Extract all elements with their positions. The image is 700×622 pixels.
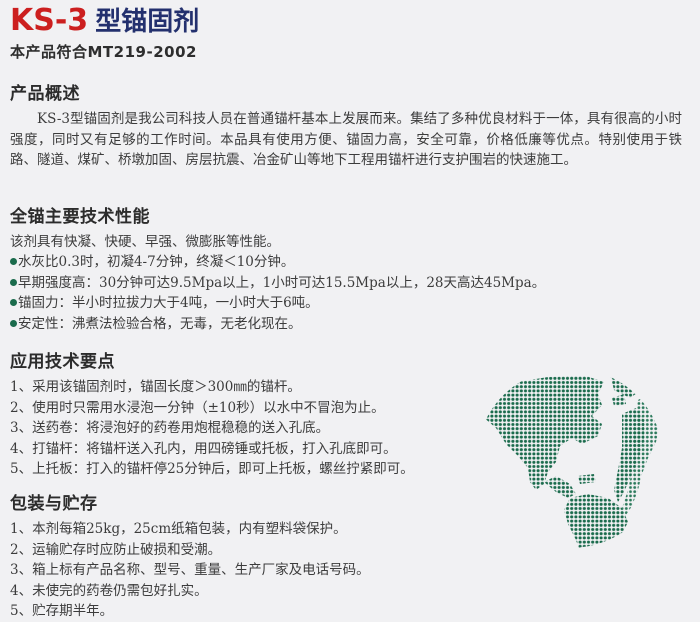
section-application-points: 应用技术要点 1、采用该锚固剂时，锚固长度＞300㎜的锚杆。 2、使用时只需用水… xyxy=(10,352,692,480)
technical-bullet-2: 早期强度高：30分钟可达9.5Mpa以上，1小时可达15.5Mpa以上，28天高… xyxy=(10,273,692,294)
section-packaging-storage: 包装与贮存 1、本剂每箱25kg，25cm纸箱包装，内有塑料袋保护。 2、运输贮… xyxy=(10,494,692,622)
packaging-item-3: 3、箱上标有产品名称、型号、重量、生产厂家及电话号码。 xyxy=(10,560,692,581)
technical-bullet-4: 安定性：沸煮法检验合格，无毒，无老化现在。 xyxy=(10,314,692,335)
application-item-5: 5、上托板：打入的锚杆停25分钟后，即可上托板，螺丝拧紧即可。 xyxy=(10,459,692,480)
technical-bullet-4-text: 安定性：沸煮法检验合格，无毒，无老化现在。 xyxy=(18,316,302,332)
technical-intro: 该剂具有快凝、快硬、早强、微膨胀等性能。 xyxy=(10,232,692,252)
standard-compliance-line: 本产品符合MT219-2002 xyxy=(10,41,690,62)
technical-bullet-1: 水灰比0.3时，初凝4-7分钟，终凝＜10分钟。 xyxy=(10,252,692,273)
packaging-item-2: 2、运输贮存时应防止破损和受潮。 xyxy=(10,540,692,561)
section-heading-packaging: 包装与贮存 xyxy=(10,494,692,515)
packaging-item-1: 1、本剂每箱25kg，25cm纸箱包装，内有塑料袋保护。 xyxy=(10,519,692,540)
product-name: 型锚固剂 xyxy=(95,7,199,37)
document-header: KS-3型锚固剂 本产品符合MT219-2002 xyxy=(10,6,690,62)
overview-paragraph: KS-3型锚固剂是我公司科技人员在普通锚杆基本上发展而来。集结了多种优良材料于一… xyxy=(10,109,682,171)
section-heading-technical: 全锚主要技术性能 xyxy=(10,207,692,228)
technical-bullet-2-text: 早期强度高：30分钟可达9.5Mpa以上，1小时可达15.5Mpa以上，28天高… xyxy=(18,275,545,291)
application-item-4: 4、打锚杆：将锚杆送入孔内，用四磅锤或托板，打入孔底即可。 xyxy=(10,439,692,460)
product-datasheet-page: KS-3型锚固剂 本产品符合MT219-2002 产品概述 KS-3型锚固剂是我… xyxy=(0,0,700,608)
technical-bullet-3-text: 锚固力：半小时拉拔力大于4吨，一小时大于6吨。 xyxy=(18,295,319,311)
section-technical-performance: 全锚主要技术性能 该剂具有快凝、快硬、早强、微膨胀等性能。 水灰比0.3时，初凝… xyxy=(10,207,692,334)
packaging-item-5: 5、贮存期半年。 xyxy=(10,601,692,622)
section-heading-application: 应用技术要点 xyxy=(10,352,692,373)
application-item-3: 3、送药卷：将浸泡好的药卷用炮棍稳稳的送入孔底。 xyxy=(10,418,692,439)
page-title: KS-3型锚固剂 xyxy=(10,6,690,36)
bullet-dot-icon xyxy=(10,299,17,306)
application-item-2: 2、使用时只需用水浸泡一分钟（±10秒）以水中不冒泡为止。 xyxy=(10,398,692,419)
packaging-item-4: 4、未使完的药卷仍需包好扎实。 xyxy=(10,581,692,602)
bullet-dot-icon xyxy=(10,279,17,286)
bullet-dot-icon xyxy=(10,320,17,327)
technical-bullet-1-text: 水灰比0.3时，初凝4-7分钟，终凝＜10分钟。 xyxy=(18,254,294,270)
section-heading-overview: 产品概述 xyxy=(10,84,692,105)
product-code: KS-3 xyxy=(10,3,88,38)
application-item-1: 1、采用该锚固剂时，锚固长度＞300㎜的锚杆。 xyxy=(10,377,692,398)
bullet-dot-icon xyxy=(10,258,17,265)
technical-bullet-3: 锚固力：半小时拉拔力大于4吨，一小时大于6吨。 xyxy=(10,293,692,314)
section-overview: 产品概述 KS-3型锚固剂是我公司科技人员在普通锚杆基本上发展而来。集结了多种优… xyxy=(10,84,692,171)
